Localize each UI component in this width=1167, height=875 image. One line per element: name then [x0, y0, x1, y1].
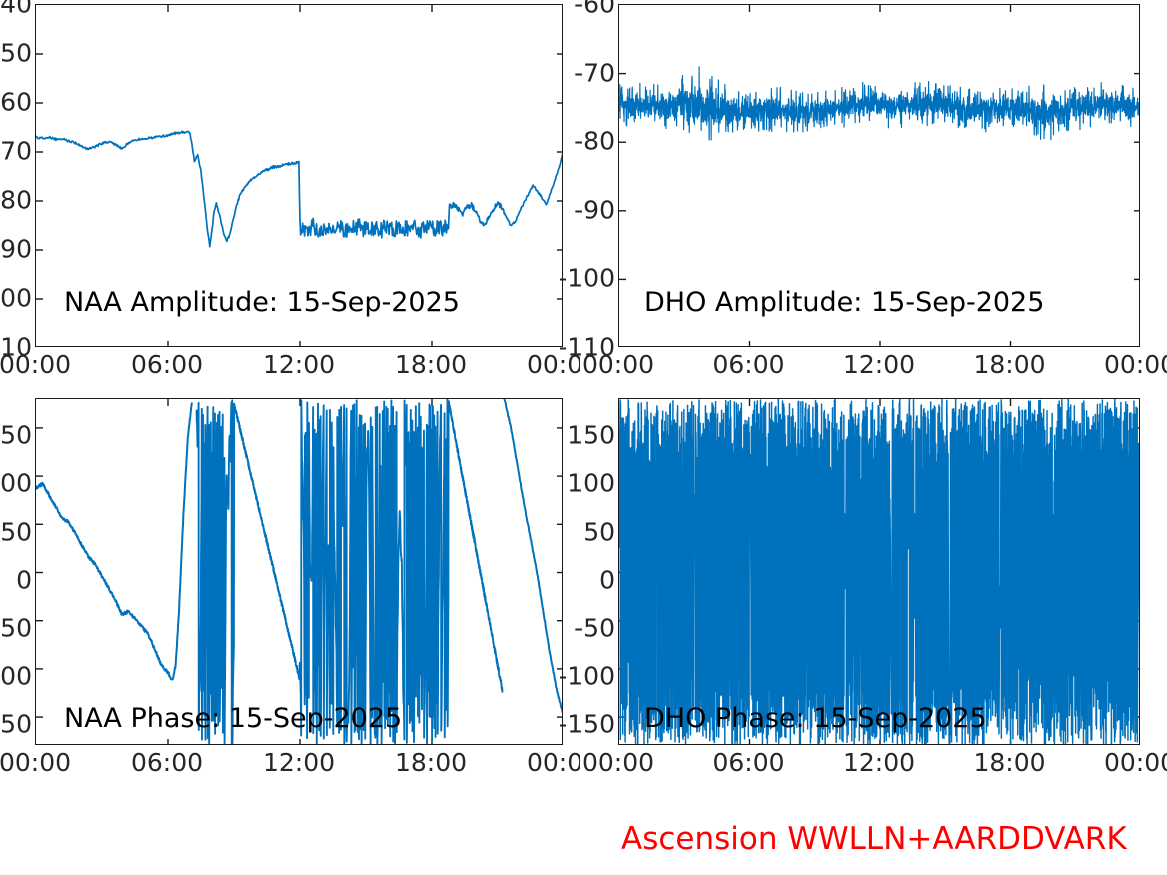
- ytick-label: -50: [574, 616, 615, 641]
- xtick-label: 12:00: [843, 750, 915, 775]
- xtick-label: 00:00: [582, 750, 654, 775]
- xtick-label: 00:00: [0, 352, 71, 377]
- ytick-label: 50: [583, 519, 615, 544]
- ytick-label: 0: [599, 567, 615, 592]
- ytick-label: 0: [16, 567, 32, 592]
- panel-naa-phase: 150 100 50 0 -50 -100 -150 00:00 06:00 1…: [0, 390, 580, 790]
- dho-amplitude-ytick-labels: -60 -70 -80 -90 -100 -110: [560, 0, 615, 360]
- xtick-label: 06:00: [712, 750, 784, 775]
- ytick-label: -100: [560, 664, 615, 689]
- ytick-label: -150: [560, 712, 615, 737]
- dho-phase-xtick-labels: 00:00 06:00 12:00 18:00 00:00: [560, 750, 1167, 784]
- ytick-label: 100: [0, 471, 32, 496]
- xtick-label: 00:00: [0, 750, 71, 775]
- xtick-label: 12:00: [263, 750, 335, 775]
- ytick-label: -100: [560, 266, 615, 291]
- ytick-label: -60: [574, 0, 615, 17]
- ytick-label: 50: [0, 519, 32, 544]
- ytick-label: 100: [567, 471, 615, 496]
- panel-dho-phase: 150 100 50 0 -50 -100 -150 00:00 06:00 1…: [560, 390, 1167, 790]
- xtick-label: 18:00: [973, 750, 1045, 775]
- ytick-label: -80: [574, 129, 615, 154]
- ytick-label: -90: [574, 197, 615, 222]
- xtick-label: 00:00: [1104, 352, 1167, 377]
- footer-annotation: Ascension WWLLN+AARDDVARK: [621, 824, 1127, 855]
- ytick-label: -100: [0, 664, 32, 689]
- ytick-label: -90: [0, 237, 32, 262]
- xtick-label: 06:00: [712, 352, 784, 377]
- ytick-label: -50: [0, 41, 32, 66]
- naa-amplitude-ytick-labels: -40 -50 -60 -70 -80 -90 -100 -110: [0, 0, 32, 360]
- ytick-label: 150: [0, 423, 32, 448]
- dho-phase-ytick-labels: 150 100 50 0 -50 -100 -150: [560, 390, 615, 760]
- xtick-label: 18:00: [395, 750, 467, 775]
- dho-phase-axes[interactable]: [618, 398, 1140, 745]
- ytick-label: -70: [0, 139, 32, 164]
- naa-phase-ytick-labels: 150 100 50 0 -50 -100 -150: [0, 390, 32, 760]
- naa-amplitude-title: NAA Amplitude: 15-Sep-2025: [64, 289, 460, 316]
- naa-phase-axes[interactable]: [35, 398, 563, 745]
- naa-phase-xtick-labels: 00:00 06:00 12:00 18:00 00:00: [0, 750, 580, 784]
- xtick-label: 12:00: [843, 352, 915, 377]
- naa-amplitude-xtick-labels: 00:00 06:00 12:00 18:00 00:00: [0, 352, 580, 386]
- naa-phase-title: NAA Phase: 15-Sep-2025: [64, 705, 402, 732]
- ytick-label: -50: [0, 616, 32, 641]
- ytick-label: -70: [574, 60, 615, 85]
- panel-dho-amplitude: -60 -70 -80 -90 -100 -110 00:00 06:00 12…: [560, 0, 1167, 390]
- xtick-label: 06:00: [131, 750, 203, 775]
- ytick-label: -80: [0, 188, 32, 213]
- ytick-label: 150: [567, 423, 615, 448]
- dho-phase-title: DHO Phase: 15-Sep-2025: [644, 705, 987, 732]
- ytick-label: -60: [0, 90, 32, 115]
- ytick-label: -40: [0, 0, 32, 17]
- xtick-label: 12:00: [263, 352, 335, 377]
- panel-naa-amplitude: -40 -50 -60 -70 -80 -90 -100 -110 00:00 …: [0, 0, 580, 390]
- xtick-label: 06:00: [131, 352, 203, 377]
- xtick-label: 18:00: [395, 352, 467, 377]
- dho-amplitude-xtick-labels: 00:00 06:00 12:00 18:00 00:00: [560, 352, 1167, 386]
- naa-phase-plot-area: [36, 399, 563, 745]
- dho-amplitude-title: DHO Amplitude: 15-Sep-2025: [644, 289, 1044, 316]
- xtick-label: 00:00: [1104, 750, 1167, 775]
- ytick-label: -100: [0, 286, 32, 311]
- dho-phase-plot-area: [619, 399, 1140, 745]
- ytick-label: -150: [0, 712, 32, 737]
- xtick-label: 00:00: [582, 352, 654, 377]
- xtick-label: 18:00: [973, 352, 1045, 377]
